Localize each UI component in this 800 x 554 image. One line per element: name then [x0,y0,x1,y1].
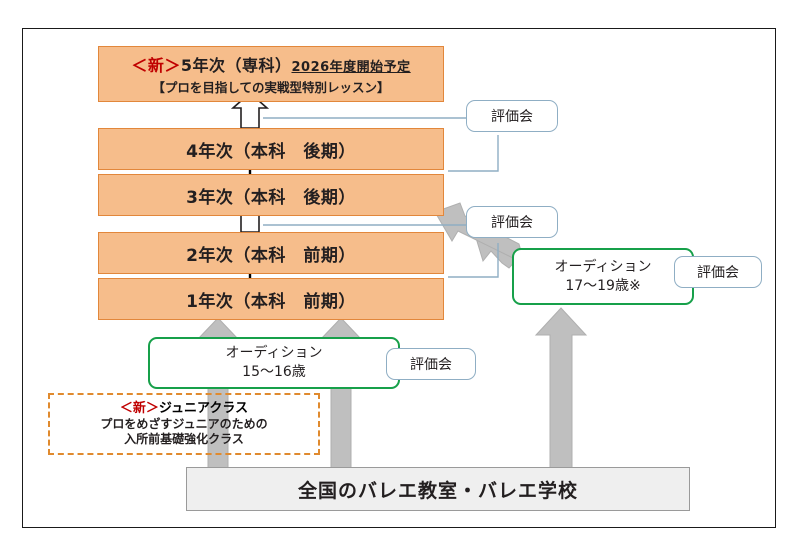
year5-sub: 【プロを目指しての実戦型特別レッスン】 [152,77,389,96]
junior-class-box[interactable]: ＜新＞ジュニアクラス プロをめざすジュニアのための 入所前基礎強化クラス [48,393,320,455]
base-bar[interactable]: 全国のバレエ教室・バレエ学校 [186,467,690,511]
junior-audition-line2: 15〜16歳 [242,363,306,382]
junior-class-new-tag: ＜新＞ [120,401,159,416]
senior-audition-line2: 17〜19歳※ [565,277,640,296]
year2-label: 2年次（本科 前期） [186,241,356,266]
year5-main-line: ＜新＞5年次（専科）2026年度開始予定 [131,52,410,76]
eval-senior-label: 評価会 [697,262,739,282]
year3-label: 3年次（本科 後期） [186,183,356,208]
senior-audition-line1: オーディション [554,258,651,277]
eval-top-label: 評価会 [491,106,533,126]
diagram-canvas: ＜新＞5年次（専科）2026年度開始予定 【プロを目指しての実戦型特別レッスン】… [0,0,800,554]
eval-junior-label: 評価会 [410,354,452,374]
year4-box[interactable]: 4年次（本科 後期） [98,128,444,170]
year1-label: 1年次（本科 前期） [186,287,356,312]
year4-label: 4年次（本科 後期） [186,137,356,162]
year5-new-tag: ＜新＞ [131,56,181,75]
senior-audition-box[interactable]: オーディション 17〜19歳※ [512,248,694,305]
junior-audition-box[interactable]: オーディション 15〜16歳 [148,337,400,389]
year3-box[interactable]: 3年次（本科 後期） [98,174,444,216]
year5-main: 5年次（専科） [181,56,292,75]
eval-senior-bubble[interactable]: 評価会 [674,256,762,288]
eval-mid-label: 評価会 [491,212,533,232]
year2-box[interactable]: 2年次（本科 前期） [98,232,444,274]
base-bar-label: 全国のバレエ教室・バレエ学校 [298,476,578,503]
gray-arrow-right [536,308,586,470]
year1-box[interactable]: 1年次（本科 前期） [98,278,444,320]
eval-junior-bubble[interactable]: 評価会 [386,348,476,380]
junior-class-line2: プロをめざすジュニアのための [100,417,267,432]
year5-note: 2026年度開始予定 [291,60,410,75]
year5-box[interactable]: ＜新＞5年次（専科）2026年度開始予定 【プロを目指しての実戦型特別レッスン】 [98,46,444,102]
junior-class-title-line: ＜新＞ジュニアクラス [120,401,248,417]
eval-top-bubble[interactable]: 評価会 [466,100,558,132]
eval-mid-bubble[interactable]: 評価会 [466,206,558,238]
eval-top-line-down [448,135,498,171]
junior-audition-line1: オーディション [225,344,322,363]
junior-class-title: ジュニアクラス [159,401,248,416]
junior-class-line3: 入所前基礎強化クラス [124,432,244,447]
